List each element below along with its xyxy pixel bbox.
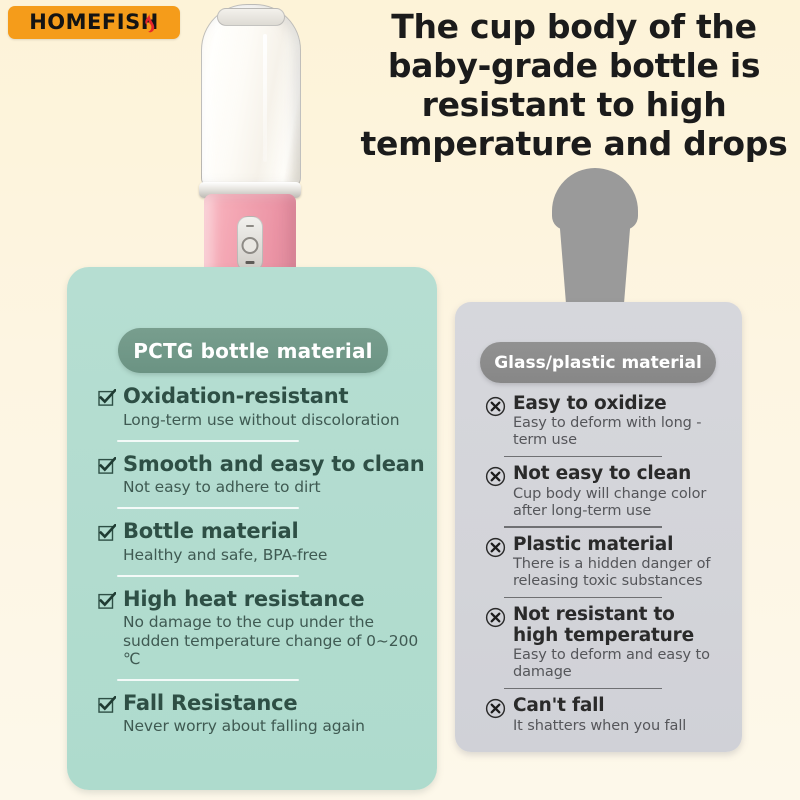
list-item-title: Smooth and easy to clean: [123, 453, 428, 477]
circle-x-icon: [485, 607, 506, 628]
silhouette-head: [552, 168, 638, 230]
list-item: Not easy to clean Cup body will change c…: [485, 464, 723, 519]
brand-logo-text: HOMEFISH: [29, 12, 159, 33]
brand-logo: HOMEFISH: [8, 6, 180, 39]
checkbox-checked-icon: [98, 696, 116, 714]
list-divider: [117, 440, 299, 442]
list-item-title: Not easy to clean: [513, 464, 723, 484]
panel-indicator-bottom: [246, 261, 255, 264]
list-divider: [117, 575, 299, 577]
list-item: Easy to oxidize Easy to deform with long…: [485, 394, 723, 449]
list-item: Can't fall It shatters when you fall: [485, 696, 723, 734]
glass-plastic-badge: Glass/plastic material: [480, 342, 716, 383]
list-divider: [117, 507, 299, 509]
list-item: Bottle material Healthy and safe, BPA-fr…: [98, 520, 428, 564]
panel-indicator-top: [246, 225, 254, 227]
list-item-title: Can't fall: [513, 696, 723, 716]
glass-plastic-drawback-list: Easy to oxidize Easy to deform with long…: [485, 394, 723, 734]
power-button-icon: [242, 237, 259, 254]
checkbox-checked-icon: [98, 457, 116, 475]
list-item: Smooth and easy to clean Not easy to adh…: [98, 453, 428, 497]
checkbox-checked-icon: [98, 524, 116, 542]
list-item-subtitle: There is a hidden danger of releasing to…: [513, 556, 723, 590]
list-item: Plastic material There is a hidden dange…: [485, 535, 723, 590]
list-divider: [504, 526, 662, 528]
list-item-subtitle: No damage to the cup under the sudden te…: [123, 613, 428, 667]
list-divider: [504, 597, 662, 599]
page-headline: The cup body of the baby-grade bottle is…: [352, 8, 796, 164]
list-item-title: Bottle material: [123, 520, 428, 544]
list-item-subtitle: Healthy and safe, BPA-free: [123, 546, 428, 564]
pctg-badge: PCTG bottle material: [118, 328, 388, 373]
blender-control-panel: [237, 216, 263, 272]
circle-x-icon: [485, 466, 506, 487]
list-item-title: High heat resistance: [123, 588, 428, 612]
list-item: High heat resistance No damage to the cu…: [98, 588, 428, 668]
list-item-subtitle: Never worry about falling again: [123, 717, 428, 735]
circle-x-icon: [485, 537, 506, 558]
blender-lid: [217, 8, 285, 26]
list-item-title: Oxidation-resistant: [123, 385, 428, 409]
list-item: Fall Resistance Never worry about fallin…: [98, 692, 428, 736]
list-item: Not resistant to high temperature Easy t…: [485, 605, 723, 680]
circle-x-icon: [485, 396, 506, 417]
list-item-subtitle: Easy to deform with long -term use: [513, 415, 723, 449]
blender-cup-body: [201, 4, 301, 188]
list-item-subtitle: Easy to deform and easy to damage: [513, 647, 723, 681]
list-item: Oxidation-resistant Long-term use withou…: [98, 385, 428, 429]
list-divider: [504, 456, 662, 458]
pctg-badge-label: PCTG bottle material: [133, 339, 372, 363]
list-item-title: Fall Resistance: [123, 692, 428, 716]
infographic-page: HOMEFISH The cup body of the baby-grade …: [0, 0, 800, 800]
pctg-feature-list: Oxidation-resistant Long-term use withou…: [98, 385, 428, 735]
list-item-subtitle: Cup body will change color after long-te…: [513, 486, 723, 520]
list-item-title: Plastic material: [513, 535, 723, 555]
checkbox-checked-icon: [98, 389, 116, 407]
checkbox-checked-icon: [98, 592, 116, 610]
glass-plastic-material-card: Glass/plastic material Easy to oxidize E…: [455, 302, 742, 752]
circle-x-icon: [485, 698, 506, 719]
list-item-subtitle: It shatters when you fall: [513, 718, 723, 735]
list-item-title: Easy to oxidize: [513, 394, 723, 414]
list-divider: [117, 679, 299, 681]
list-item-title: Not resistant to high temperature: [513, 605, 723, 646]
pctg-material-card: PCTG bottle material Oxidation-resistant…: [67, 267, 437, 790]
list-item-subtitle: Not easy to adhere to dirt: [123, 478, 428, 496]
glass-plastic-badge-label: Glass/plastic material: [494, 353, 702, 373]
list-item-subtitle: Long-term use without discoloration: [123, 411, 428, 429]
list-divider: [504, 688, 662, 690]
product-blender-image: [195, 0, 305, 290]
